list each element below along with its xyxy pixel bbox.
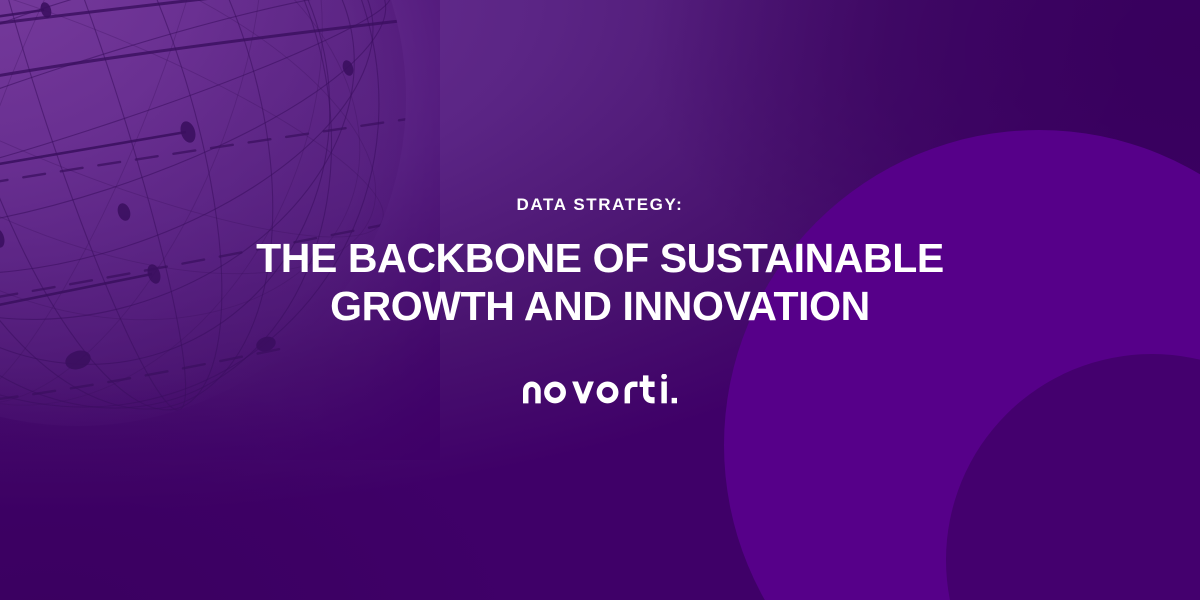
slide-canvas: DATA STRATEGY: THE BACKBONE OF SUSTAINAB… [0,0,1200,600]
page-title: THE BACKBONE OF SUSTAINABLE GROWTH AND I… [256,235,944,330]
eyebrow-label: DATA STRATEGY: [517,196,684,213]
slide-content: DATA STRATEGY: THE BACKBONE OF SUSTAINAB… [0,0,1200,600]
brand-logo [523,374,677,404]
